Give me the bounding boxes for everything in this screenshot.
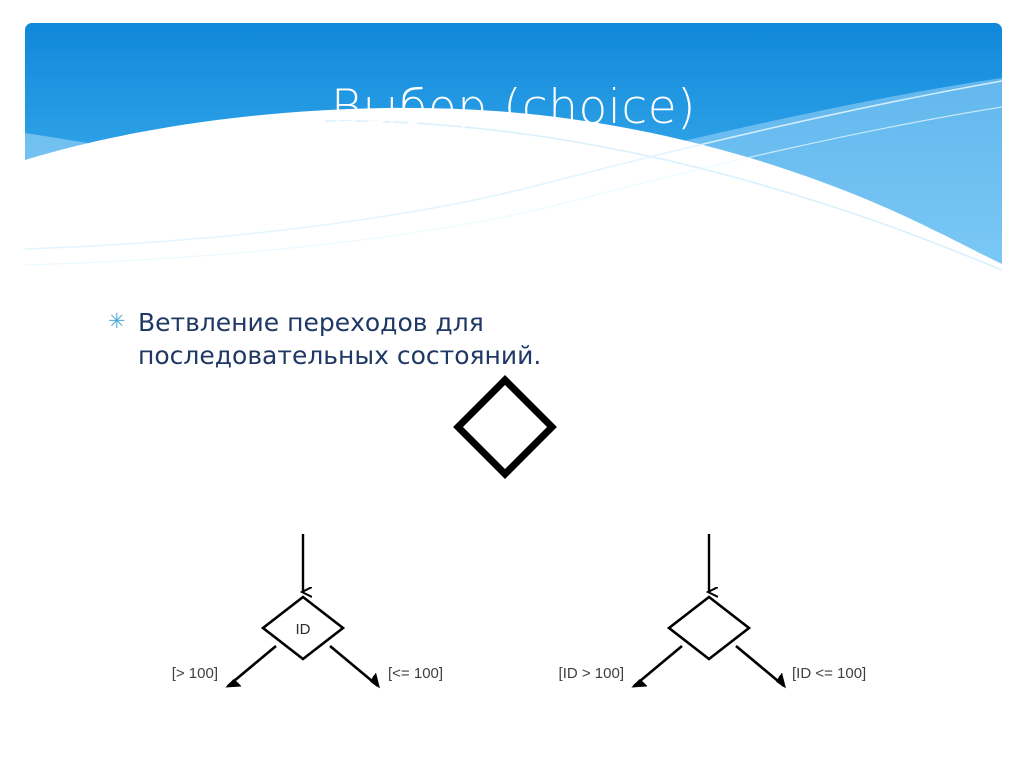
branching-graphic-right: [ID > 100] [ID <= 100]	[510, 520, 930, 700]
slide-canvas: Выбор (choice) ✳ Ветвление переходов для…	[0, 0, 1024, 767]
branching-graphic-left: ID [> 100] [<= 100]	[130, 520, 510, 700]
choice-diamond	[669, 597, 749, 659]
branch-label-left: [ID > 100]	[559, 665, 624, 682]
banner-graphic	[25, 23, 1002, 285]
slide-header-banner	[25, 23, 1002, 285]
branching-diagram-left: ID [> 100] [<= 100]	[130, 520, 510, 700]
branch-label-left: [> 100]	[172, 665, 218, 682]
choice-diamond-label: ID	[296, 621, 311, 638]
page-title: Выбор (choice)	[25, 82, 1002, 134]
branch-arrow-left	[634, 646, 682, 686]
branch-label-right: [<= 100]	[388, 665, 443, 682]
choice-symbol-graphic	[440, 372, 580, 482]
choice-symbol-diagram	[440, 372, 580, 482]
asterisk-bullet-icon: ✳	[108, 306, 138, 336]
branch-label-right: [ID <= 100]	[792, 665, 866, 682]
branch-arrow-left	[228, 646, 276, 686]
diamond-shape	[458, 380, 552, 474]
branching-diagram-right: [ID > 100] [ID <= 100]	[510, 520, 930, 700]
bullet-list-item: ✳ Ветвление переходов для последовательн…	[108, 306, 728, 372]
branch-arrow-right	[330, 646, 378, 686]
bullet-item-label: Ветвление переходов для последовательных…	[138, 306, 638, 372]
branch-arrow-right	[736, 646, 784, 686]
